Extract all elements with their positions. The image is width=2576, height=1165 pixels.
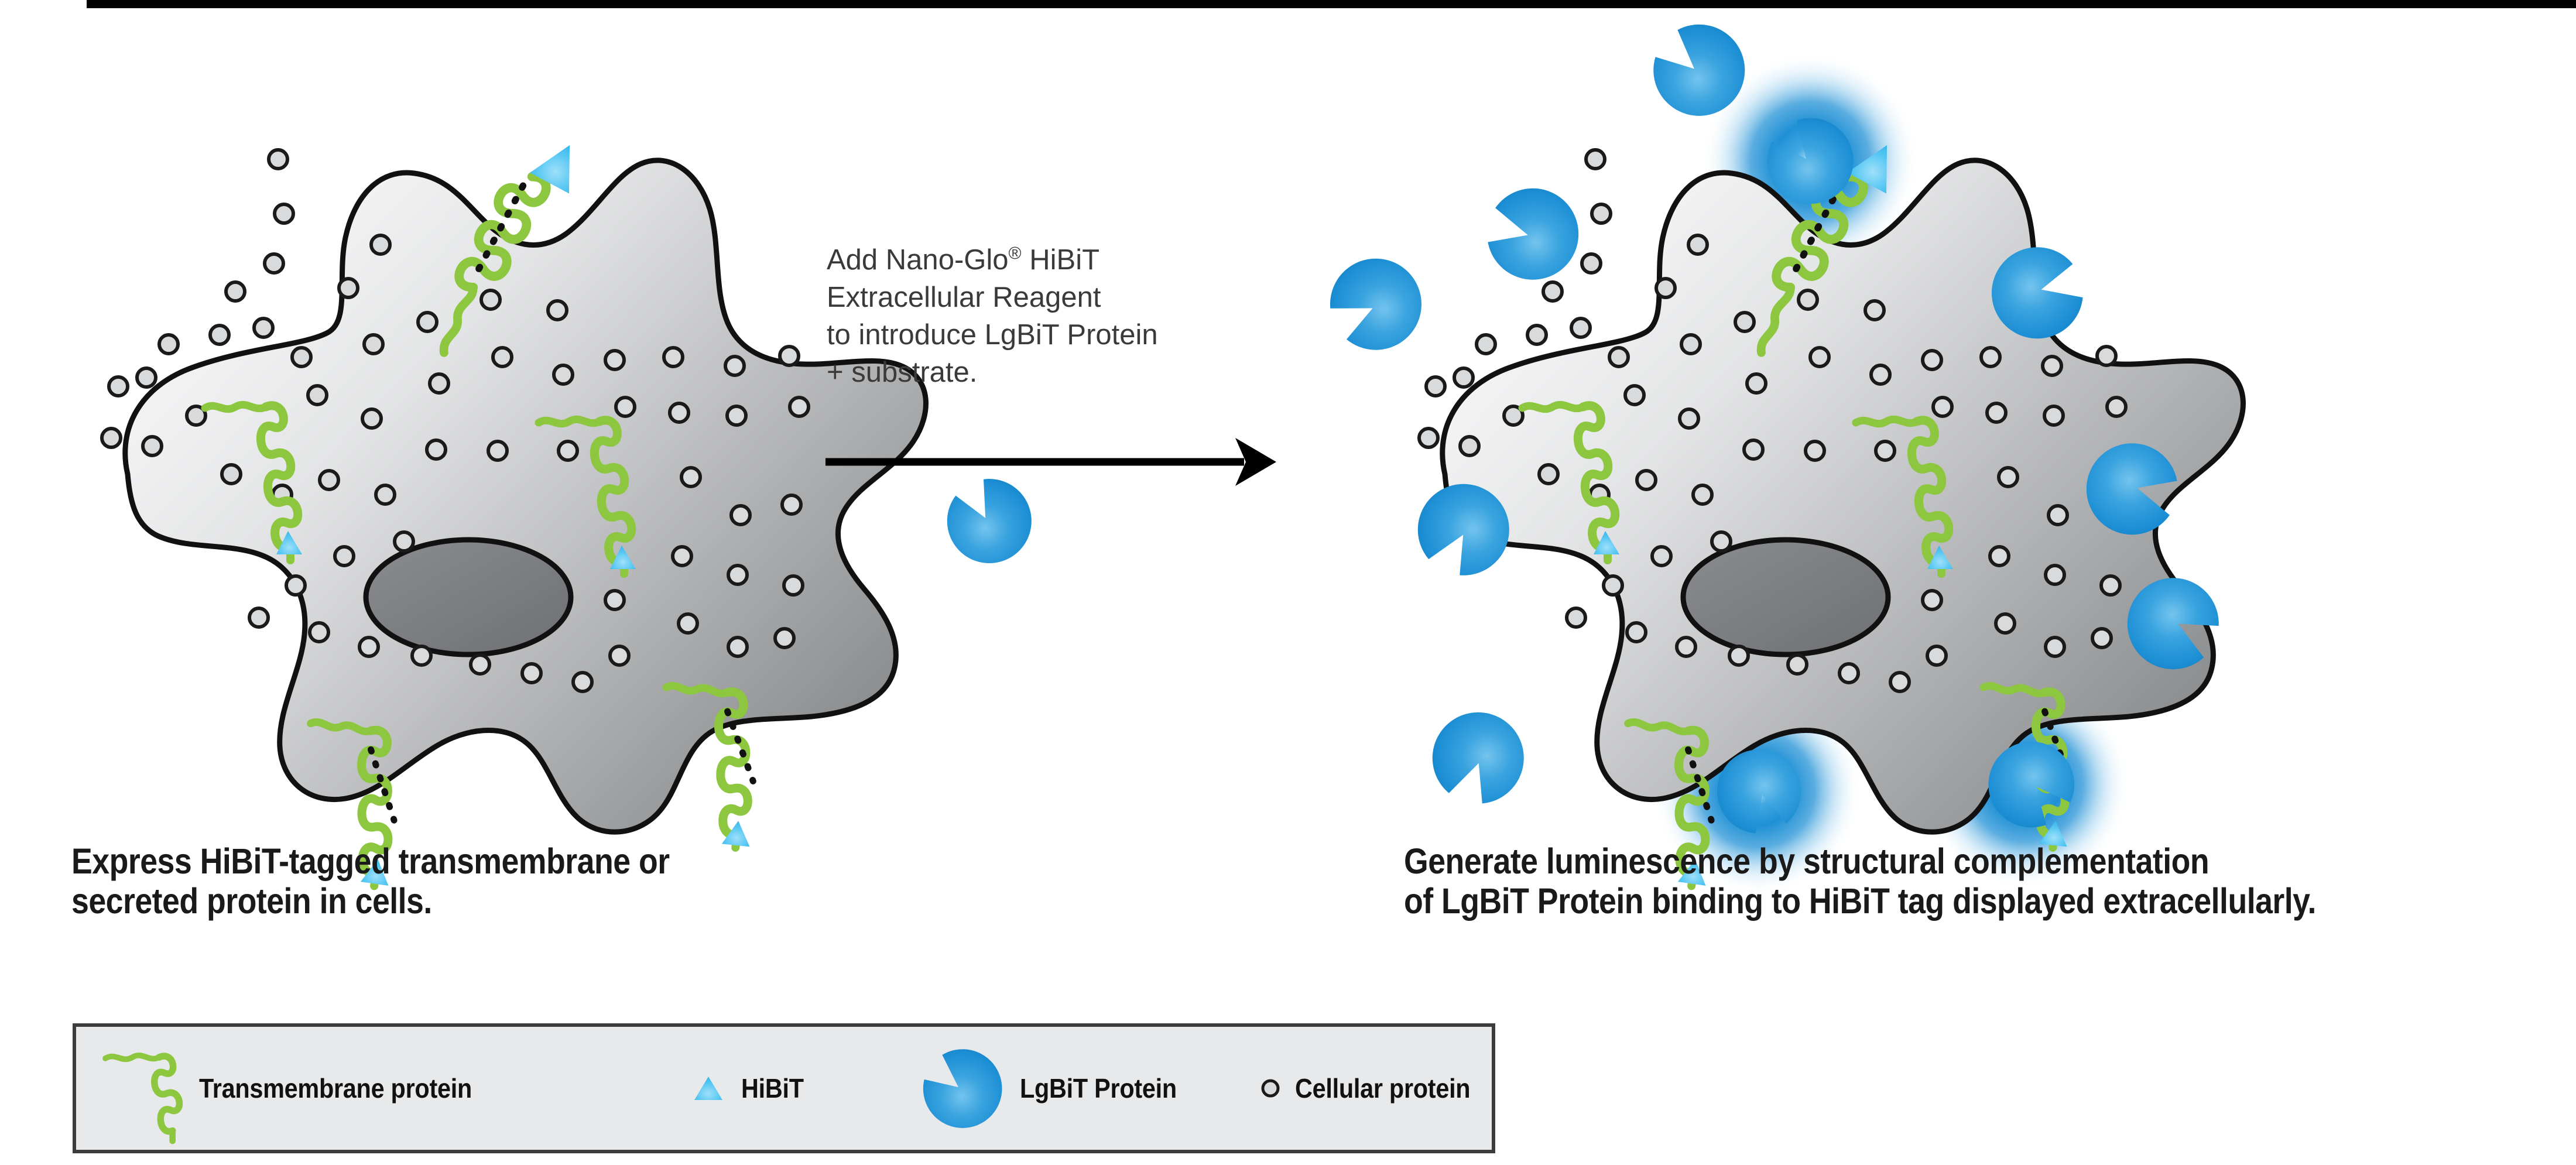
transmembrane-protein-icon bbox=[100, 1044, 199, 1132]
diagram-stage: Add Nano-Glo® HiBiTExtracellular Reagent… bbox=[0, 0, 2576, 1165]
caption-left: Express HiBiT-tagged transmembrane or se… bbox=[71, 841, 896, 921]
lgbit-protein-2 bbox=[1469, 170, 1597, 297]
cell-right-group bbox=[1326, 8, 2243, 895]
figure-svg bbox=[0, 0, 2576, 1165]
legend-item-cellular-protein: Cellular protein bbox=[1259, 1027, 1490, 1150]
nucleus-right bbox=[1683, 540, 1888, 655]
legend-label-transmembrane-protein: Transmembrane protein bbox=[199, 1073, 472, 1104]
lgbit-protein-5 bbox=[1414, 694, 1543, 823]
lgbit-protein-center bbox=[942, 474, 1037, 569]
legend-label-lgbit-protein: LgBiT Protein bbox=[1020, 1073, 1177, 1104]
cell-membrane-left bbox=[125, 160, 926, 832]
step-line1: Add Nano-Glo bbox=[827, 244, 1009, 276]
lgbit-protein-icon bbox=[919, 1044, 1007, 1132]
legend-item-lgbit-protein: LgBiT Protein bbox=[919, 1027, 1194, 1150]
step-line1-tail: HiBiT bbox=[1022, 244, 1099, 276]
step-line2: Extracellular Reagent bbox=[827, 282, 1101, 313]
hibit-triangle-icon bbox=[691, 1072, 726, 1105]
cellular-protein-icon bbox=[1259, 1077, 1282, 1100]
cell-left bbox=[102, 128, 926, 888]
lgbit-protein-3 bbox=[1326, 255, 1425, 354]
step-description: Add Nano-Glo® HiBiTExtracellular Reagent… bbox=[827, 241, 1295, 391]
legend-item-transmembrane-protein: Transmembrane protein bbox=[100, 1027, 502, 1150]
legend-label-cellular-protein: Cellular protein bbox=[1295, 1073, 1470, 1104]
legend-label-hibit: HiBiT bbox=[741, 1073, 804, 1104]
legend: Transmembrane protein HiBiT bbox=[73, 1023, 1495, 1153]
step-line3: to introduce LgBiT Protein bbox=[827, 319, 1158, 351]
nucleus-left bbox=[366, 540, 571, 655]
caption-right: Generate luminescence by structural comp… bbox=[1404, 841, 2486, 921]
registered-mark-icon: ® bbox=[1009, 244, 1022, 263]
step-line4: + substrate. bbox=[827, 357, 977, 388]
hibit-tag-1 bbox=[530, 135, 589, 193]
legend-item-hibit: HiBiT bbox=[691, 1027, 811, 1150]
